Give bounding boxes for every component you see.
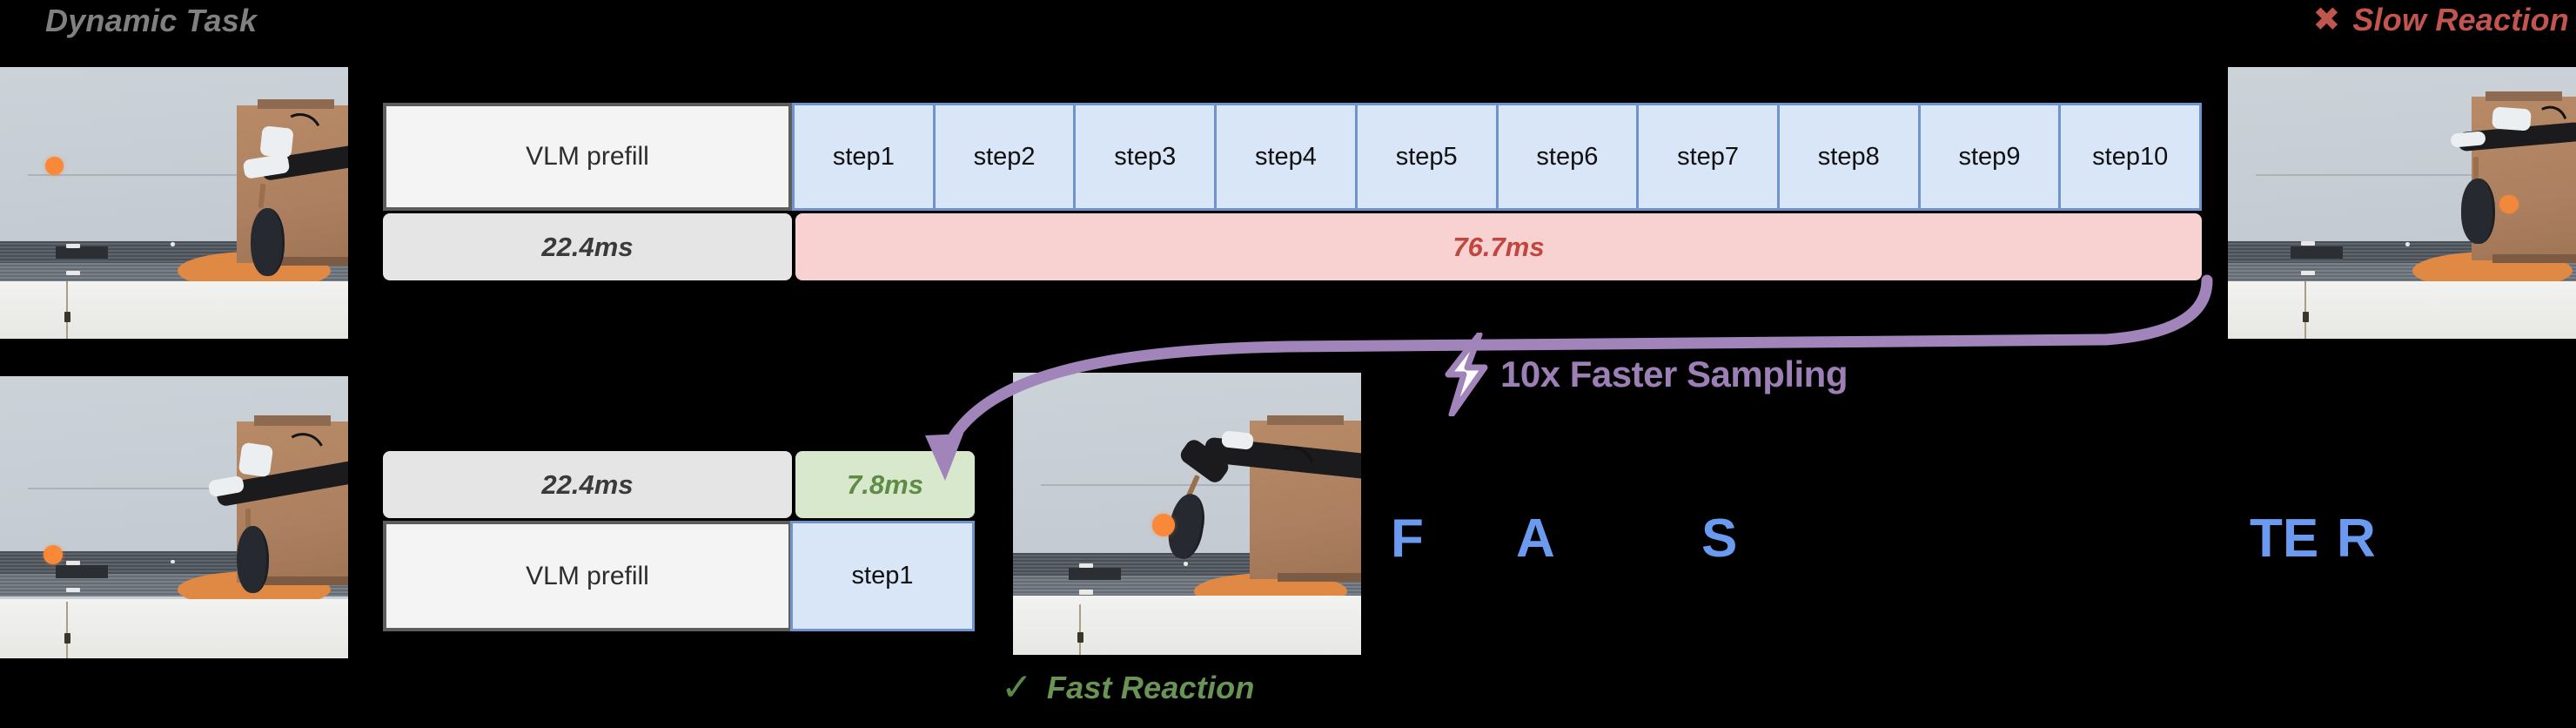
step-cell[interactable]: step1 xyxy=(790,521,975,631)
faster-letter-r: R xyxy=(2337,512,2376,566)
fast-timeline: 22.4ms 7.8ms VLM prefill step1 xyxy=(383,451,975,631)
fast-prefill-box[interactable]: VLM prefill xyxy=(383,521,792,631)
step-cell[interactable]: step8 xyxy=(1777,103,1921,211)
video-frame-slow-before xyxy=(0,67,348,339)
video-frame-slow-after xyxy=(2228,67,2576,339)
step-cell[interactable]: step5 xyxy=(1355,103,1499,211)
slow-prefill-duration: 22.4ms xyxy=(383,213,792,280)
slow-steps-container: step1 step2 step3 step4 step5 step6 step… xyxy=(792,103,2202,211)
step-cell[interactable]: step2 xyxy=(933,103,1077,211)
fast-duration-row: 22.4ms 7.8ms xyxy=(383,451,975,518)
slow-duration-row: 22.4ms 76.7ms xyxy=(383,213,2202,280)
step-cell[interactable]: step3 xyxy=(1073,103,1217,211)
faster-letter-a: A xyxy=(1516,512,1555,566)
faster-sampling-label: 10x Faster Sampling xyxy=(1500,354,1848,395)
step-cell[interactable]: step10 xyxy=(2058,103,2202,211)
fast-reaction-label: Fast Reaction xyxy=(1047,670,1255,706)
faster-letter-te: TE xyxy=(2250,512,2318,566)
cross-mark-icon: ✖ xyxy=(2313,3,2341,37)
faster-sampling-annotation: 10x Faster Sampling xyxy=(1445,347,1848,402)
step-cell[interactable]: step1 xyxy=(792,103,936,211)
faster-letter-s: S xyxy=(1701,512,1737,566)
slow-reaction-badge: ✖ Slow Reaction xyxy=(2313,0,2570,40)
step-cell[interactable]: step9 xyxy=(1918,103,2062,211)
fast-steps-duration: 7.8ms xyxy=(795,451,975,518)
step-cell[interactable]: step6 xyxy=(1496,103,1640,211)
lightning-bolt-icon xyxy=(1445,333,1492,416)
slow-prefill-box[interactable]: VLM prefill xyxy=(383,103,792,211)
video-frame-fast-after xyxy=(1013,373,1361,655)
step-cell[interactable]: step4 xyxy=(1214,103,1358,211)
slow-steps-duration: 76.7ms xyxy=(795,213,2202,280)
slow-reaction-label: Slow Reaction xyxy=(2352,2,2569,38)
faster-letter-f: F xyxy=(1391,512,1424,566)
slow-timeline: VLM prefill step1 step2 step3 step4 step… xyxy=(383,103,2202,280)
check-mark-icon: ✓ xyxy=(1001,669,1033,707)
fast-step-row: VLM prefill step1 xyxy=(383,521,975,631)
dynamic-task-label: Dynamic Task xyxy=(45,2,567,40)
fast-prefill-duration: 22.4ms xyxy=(383,451,792,518)
slow-step-row: VLM prefill step1 step2 step3 step4 step… xyxy=(383,103,2202,211)
fast-reaction-badge: ✓ Fast Reaction xyxy=(1001,664,1255,712)
video-frame-fast-before xyxy=(0,376,348,658)
step-cell[interactable]: step7 xyxy=(1636,103,1780,211)
